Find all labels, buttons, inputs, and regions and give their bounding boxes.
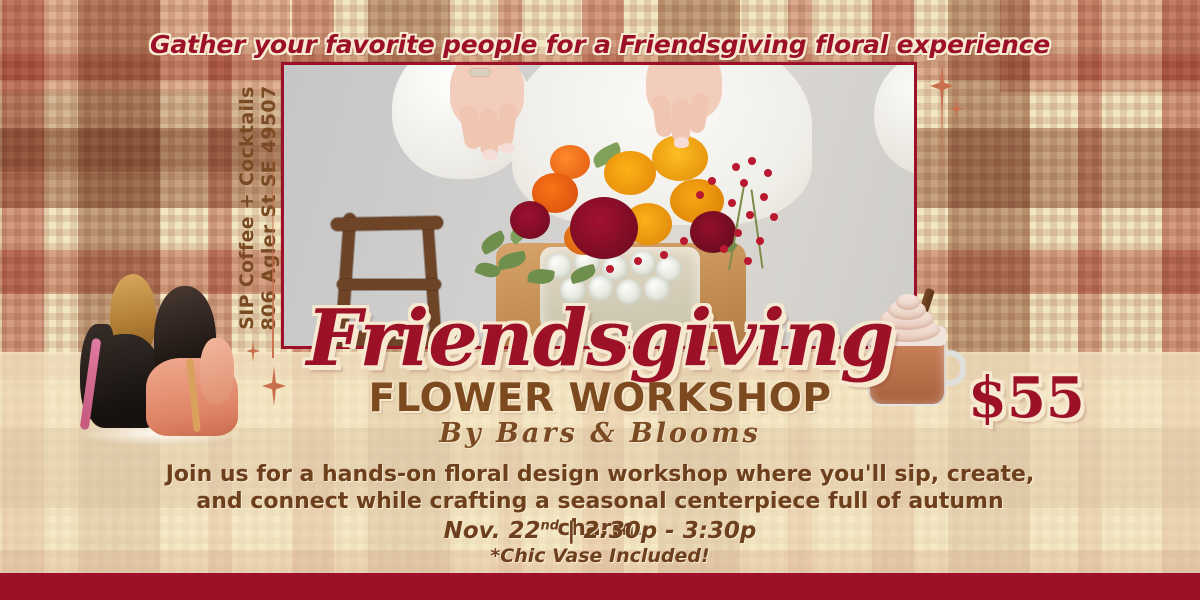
photo-ring <box>680 62 698 64</box>
sparkle-decoration-right <box>920 60 966 180</box>
photo-flower-burgundy <box>690 211 736 253</box>
vase-included-note: *Chic Vase Included! <box>0 545 1200 567</box>
bottom-accent-bar <box>0 573 1200 600</box>
tagline: Gather your favorite people for a Friend… <box>0 30 1200 59</box>
photo-hand-left <box>440 62 532 159</box>
photo-flower-yellow <box>604 151 656 195</box>
sparkle-icon <box>930 64 954 108</box>
price-badge: $55 <box>968 370 1085 426</box>
time-text: | 2:30p - 3:30p <box>559 518 756 544</box>
sparkle-icon <box>950 98 963 120</box>
friendsgiving-flyer: Gather your favorite people for a Friend… <box>0 0 1200 600</box>
date-ordinal: nd <box>541 518 560 533</box>
photo-hand-right <box>632 62 730 151</box>
photo-flower-burgundy <box>510 201 550 239</box>
date-text: Nov. 22 <box>444 518 541 544</box>
date-time-line: Nov. 22nd | 2:30p - 3:30p <box>0 518 1200 544</box>
photo-flower-burgundy <box>570 197 638 259</box>
photo-ring <box>470 69 490 76</box>
